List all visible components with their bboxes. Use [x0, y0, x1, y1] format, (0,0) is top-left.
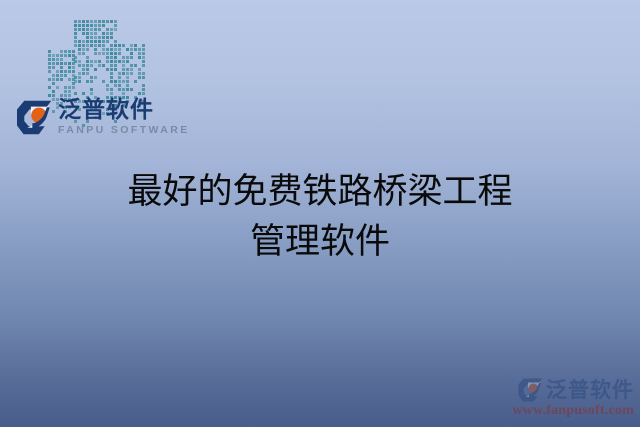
brand-logo: 泛普软件 FANPU SOFTWARE — [16, 99, 190, 136]
page-title-line-2: 管理软件 — [0, 218, 640, 268]
fanpu-hexagon-logo-icon — [518, 378, 543, 402]
page-title-line-1: 最好的免费铁路桥梁工程 — [0, 168, 640, 218]
fanpu-hexagon-logo-icon — [16, 100, 53, 135]
brand-text-block: 泛普软件 FANPU SOFTWARE — [58, 99, 190, 136]
watermark: 泛普软件 www.fanpusoft.com — [486, 378, 634, 419]
slide-canvas: 泛普软件 FANPU SOFTWARE 最好的免费铁路桥梁工程 管理软件 泛普软… — [0, 0, 640, 427]
watermark-name-cn: 泛普软件 — [546, 380, 634, 401]
page-title: 最好的免费铁路桥梁工程 管理软件 — [0, 168, 640, 267]
watermark-url: www.fanpusoft.com — [486, 403, 634, 419]
brand-name-en: FANPU SOFTWARE — [58, 125, 190, 136]
pixel-city-skyline-icon — [46, 16, 146, 104]
brand-name-cn: 泛普软件 — [58, 99, 190, 122]
watermark-logo-row: 泛普软件 — [486, 378, 634, 402]
